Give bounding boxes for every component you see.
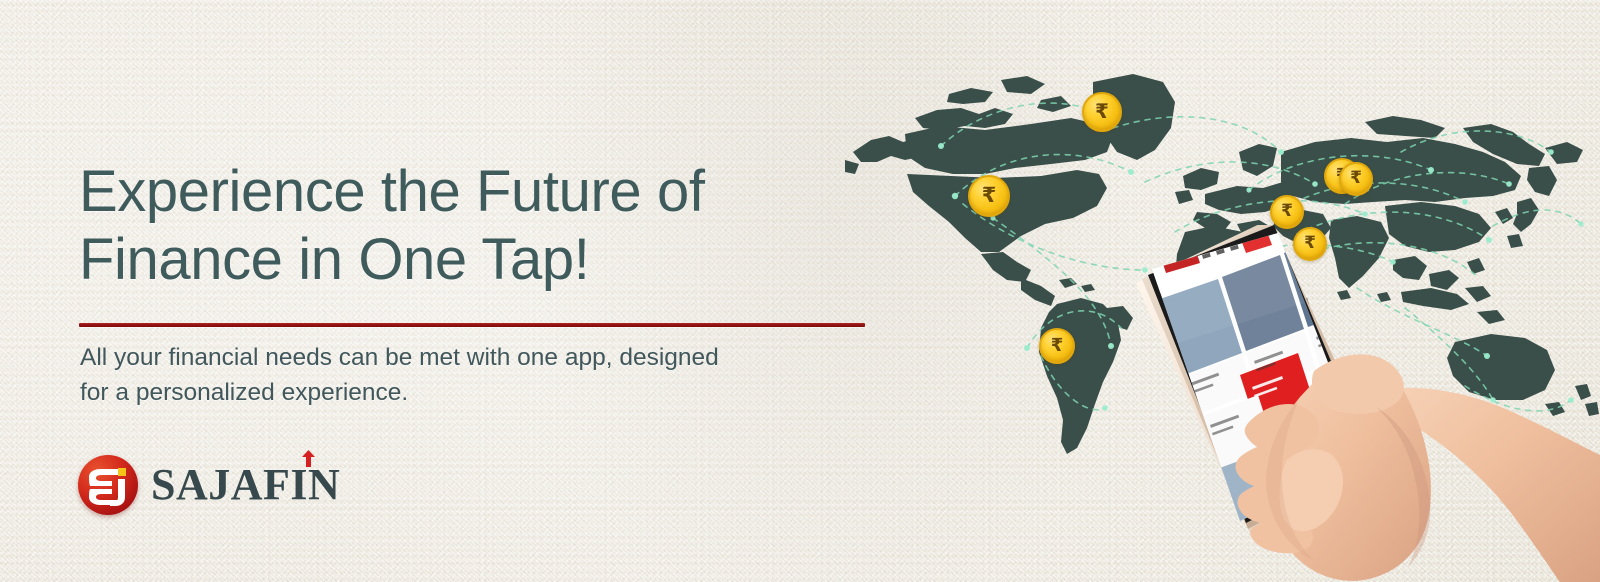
rupee-symbol: ₹ bbox=[1095, 99, 1109, 123]
up-arrow-icon bbox=[302, 450, 315, 467]
page-title: Experience the Future of Finance in One … bbox=[79, 158, 879, 294]
coin-greenland: ₹ bbox=[1082, 92, 1122, 132]
brand-logo[interactable]: SAJAFIN bbox=[78, 455, 340, 515]
coin-south-america: ₹ bbox=[1039, 328, 1075, 364]
promo-banner: ₹₹₹₹₹₹₹ bbox=[0, 0, 1600, 582]
banner-subtitle: All your financial needs can be met with… bbox=[80, 340, 870, 410]
rupee-symbol: ₹ bbox=[1350, 168, 1362, 188]
sajafin-monogram-icon bbox=[78, 455, 138, 515]
hand-holding-phone-illustration bbox=[1090, 225, 1600, 582]
coin-europe: ₹ bbox=[1270, 195, 1304, 229]
coin-north-america: ₹ bbox=[968, 175, 1010, 217]
rupee-symbol: ₹ bbox=[1281, 201, 1293, 221]
coin-asia: ₹ bbox=[1339, 162, 1373, 196]
rupee-symbol: ₹ bbox=[1051, 335, 1064, 356]
brand-wordmark: SAJAFIN bbox=[151, 460, 340, 509]
title-divider bbox=[79, 323, 865, 327]
banner-text-block: Experience the Future of Finance in One … bbox=[0, 0, 900, 582]
rupee-symbol: ₹ bbox=[982, 183, 997, 207]
brand-wordmark-container: SAJAFIN bbox=[151, 463, 340, 507]
